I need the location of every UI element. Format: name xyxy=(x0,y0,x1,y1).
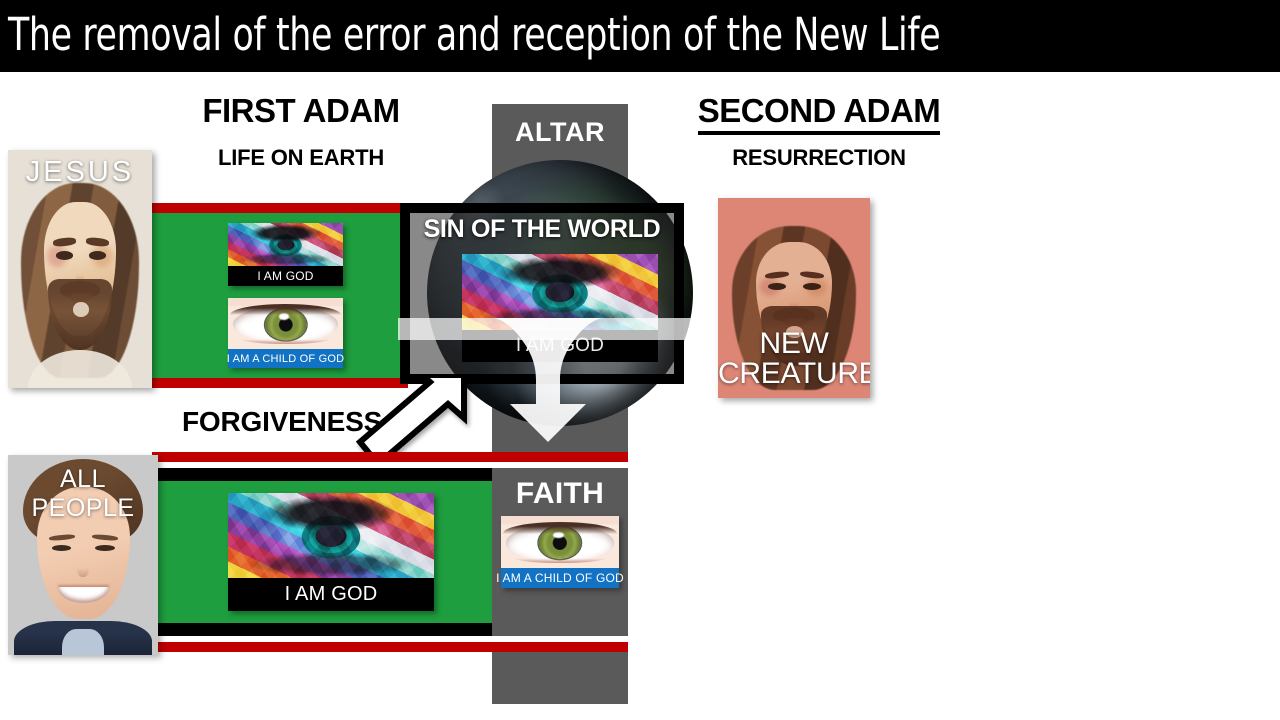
eye-right xyxy=(89,251,106,260)
heading-first-adam: FIRST ADAM xyxy=(178,92,424,130)
eye-caption-top-child: I AM A CHILD OF GOD xyxy=(228,349,343,368)
eye-left xyxy=(56,251,73,260)
all-people-label: ALL PEOPLE xyxy=(8,465,158,523)
nose xyxy=(77,555,89,577)
eye-card-child-of-god-top: I AM A CHILD OF GOD xyxy=(228,298,343,368)
lower-eyelid xyxy=(510,556,609,563)
natural-eye-image-top xyxy=(228,298,343,349)
pupil-icon xyxy=(277,239,294,250)
eye-left xyxy=(52,545,72,551)
new-creature-portrait: NEW CREATURE xyxy=(718,198,870,398)
chin-highlight xyxy=(73,302,89,316)
new-creature-line1: NEW xyxy=(759,327,828,360)
sin-of-the-world-label: SIN OF THE WORLD xyxy=(400,214,684,244)
red-bar-bottom-upper xyxy=(152,452,628,462)
red-bar-top-upper xyxy=(152,203,408,213)
black-bar-bottom-lower xyxy=(152,623,492,636)
new-creature-label: NEW CREATURE xyxy=(718,329,870,390)
eyelash-line xyxy=(230,304,340,315)
natural-eye-image-faith xyxy=(501,516,619,568)
psychedelic-eye-image-center xyxy=(462,254,658,330)
eye-card-i-am-god-center: I AM GOD xyxy=(462,254,658,362)
lower-eyelid xyxy=(237,337,334,344)
eye-caption-faith-child: I AM A CHILD OF GOD xyxy=(501,568,619,588)
pupil-icon xyxy=(545,282,574,302)
jesus-portrait: JESUS xyxy=(8,150,152,388)
slide-canvas: The removal of the error and reception o… xyxy=(0,0,1280,720)
new-creature-line2: CREATURE xyxy=(718,357,870,390)
psychedelic-eye-image-bottom xyxy=(228,493,434,578)
jesus-label: JESUS xyxy=(8,158,152,188)
eye-right xyxy=(95,545,115,551)
eye-caption-center-god: I AM GOD xyxy=(462,330,658,362)
heading-second-adam-text: SECOND ADAM xyxy=(698,92,941,135)
black-bar-bottom-upper xyxy=(152,468,492,481)
all-people-line1: ALL xyxy=(60,465,106,493)
eye-card-child-of-god-faith: I AM A CHILD OF GOD xyxy=(501,516,619,588)
eye-caption-top-god: I AM GOD xyxy=(228,266,343,286)
shirt xyxy=(62,629,104,655)
all-people-line2: PEOPLE xyxy=(31,494,134,522)
eye-card-i-am-god-bottom: I AM GOD xyxy=(228,493,434,611)
pupil-icon xyxy=(316,524,347,546)
all-people-photo: ALL PEOPLE xyxy=(8,455,158,655)
heading-resurrection: RESURRECTION xyxy=(664,145,974,171)
eye-card-i-am-god-top: I AM GOD xyxy=(228,223,343,286)
psychedelic-eye-image-top xyxy=(228,223,343,266)
forgiveness-arrow-icon xyxy=(352,378,470,460)
page-title: The removal of the error and reception o… xyxy=(8,6,940,64)
red-bar-bottom-lower xyxy=(152,642,628,652)
heading-life-on-earth: LIFE ON EARTH xyxy=(178,145,424,171)
eye-caption-bottom-god: I AM GOD xyxy=(228,578,434,611)
heading-second-adam: SECOND ADAM xyxy=(664,92,974,135)
altar-label: ALTAR xyxy=(492,116,628,148)
eyelash-line xyxy=(503,522,616,533)
faith-label: FAITH xyxy=(492,476,628,512)
